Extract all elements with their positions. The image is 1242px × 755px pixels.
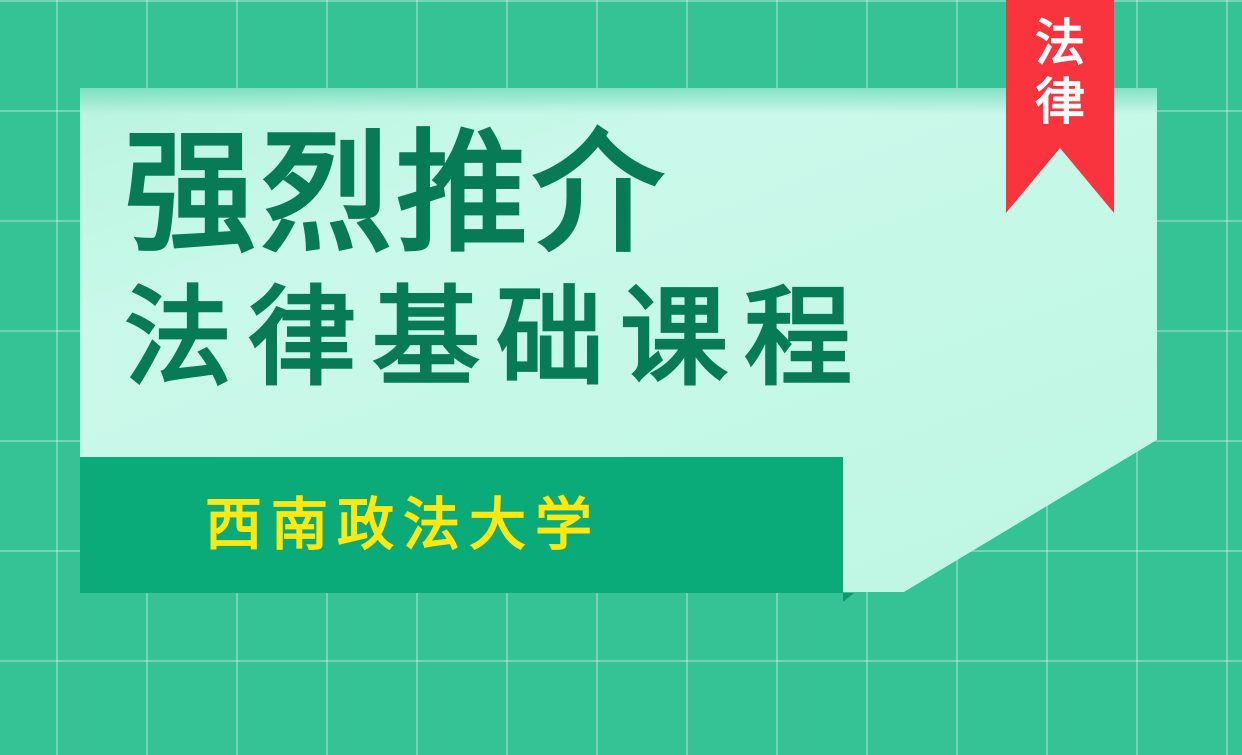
ribbon-char-1: 法 xyxy=(1035,14,1085,73)
headline-line-2: 法律基础课程 xyxy=(124,284,1084,392)
headline-line-1: 强烈推介 xyxy=(124,128,1084,260)
banner-fold-corner xyxy=(843,593,854,602)
headline-block: 强烈推介 法律基础课程 xyxy=(124,128,1084,392)
card-top-shade xyxy=(80,88,1157,114)
poster-canvas: 强烈推介 法律基础课程 西南政法大学 法 律 xyxy=(0,0,1242,755)
ribbon-char-2: 律 xyxy=(1035,73,1085,132)
institution-name: 西南政法大学 xyxy=(205,497,601,554)
institution-banner: 西南政法大学 xyxy=(80,457,843,593)
